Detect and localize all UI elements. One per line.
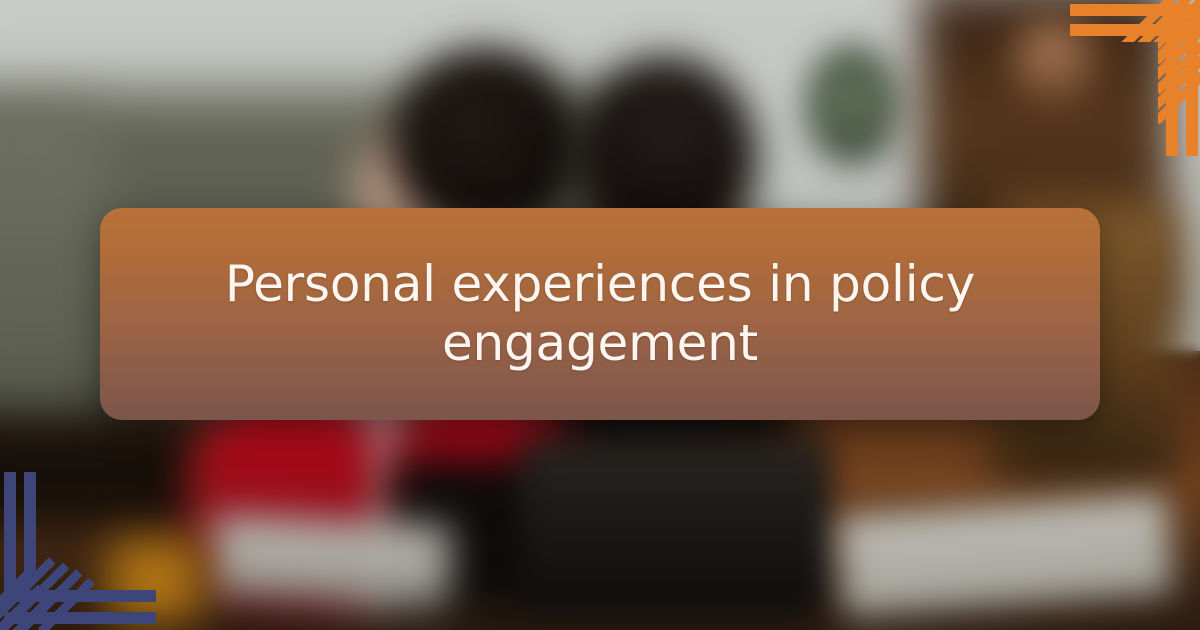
title-card: Personal experiences in policy engagemen… bbox=[100, 208, 1100, 420]
slide-canvas: Personal experiences in policy engagemen… bbox=[0, 0, 1200, 630]
page-title: Personal experiences in policy engagemen… bbox=[140, 255, 1060, 373]
